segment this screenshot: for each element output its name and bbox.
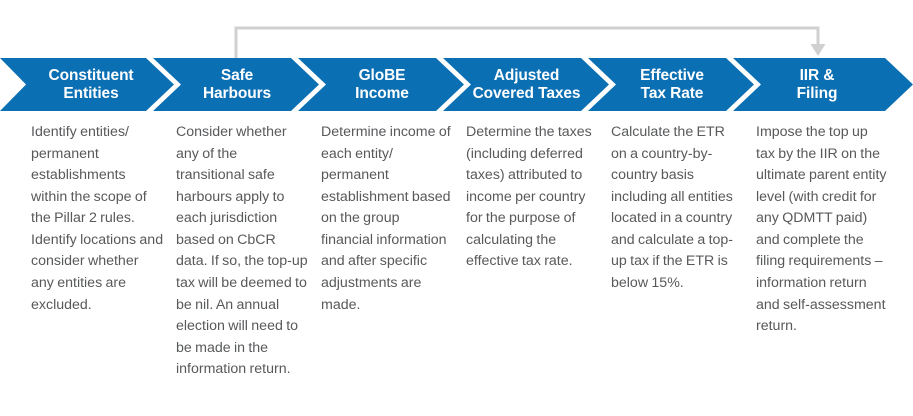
stage-heading-line2: Harbours	[203, 85, 271, 103]
stage-description-globe-income: Determine income of each entity/ permane…	[321, 122, 454, 316]
stage-description-adjusted-covered-taxes: Determine the taxes (including deferred …	[466, 122, 599, 273]
stage-heading-line1: IIR &	[800, 67, 835, 85]
stage-heading-line1: Effective	[640, 67, 704, 85]
stage-heading-iir-and-filing[interactable]: IIR & Filing	[756, 58, 878, 111]
stage-heading-line2: Filing	[797, 85, 838, 103]
stage-heading-effective-tax-rate[interactable]: Effective Tax Rate	[611, 58, 733, 111]
stage-description-constituent-entities: Identify entities/ permanent establishme…	[31, 122, 164, 316]
stage-description-effective-tax-rate: Calculate the ETR on a country-by-countr…	[611, 122, 744, 295]
safe-harbours-to-iir-feedback-arrow	[0, 0, 913, 62]
stage-heading-line1: Adjusted	[494, 67, 560, 85]
pillar2-process-diagram: Constituent Entities Safe Harbours GloBE…	[0, 0, 913, 416]
stage-heading-globe-income[interactable]: GloBE Income	[321, 58, 443, 111]
stage-heading-line2: Income	[355, 85, 409, 103]
stage-description-safe-harbours: Consider whether any of the transitional…	[176, 122, 309, 381]
stage-heading-constituent-entities[interactable]: Constituent Entities	[28, 58, 154, 111]
stage-heading-line1: Constituent	[49, 67, 134, 85]
stage-description-columns: Identify entities/ permanent establishme…	[0, 122, 913, 416]
stage-heading-safe-harbours[interactable]: Safe Harbours	[176, 58, 298, 111]
stage-description-iir-and-filing: Impose the top up tax by the IIR on the …	[756, 122, 889, 338]
stage-heading-line2: Tax Rate	[641, 85, 704, 103]
stage-heading-adjusted-covered-taxes[interactable]: Adjusted Covered Taxes	[463, 58, 590, 111]
stage-heading-line1: Safe	[221, 67, 253, 85]
stage-heading-line2: Entities	[63, 85, 118, 103]
stage-heading-line2: Covered Taxes	[473, 85, 581, 103]
arrowhead-icon	[811, 44, 826, 56]
stage-heading-line1: GloBE	[359, 67, 406, 85]
